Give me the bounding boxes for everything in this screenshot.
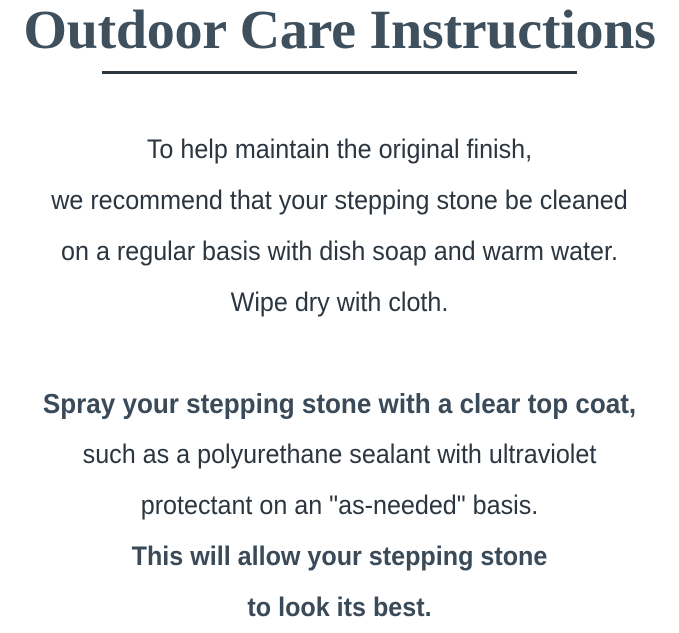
title-block: Outdoor Care Instructions <box>0 0 679 60</box>
body-line-emphasized: Spray your stepping stone with a clear t… <box>24 378 655 429</box>
title-divider <box>102 71 577 74</box>
body-line: protectant on an "as-needed" basis. <box>24 480 655 531</box>
body-line: To help maintain the original finish, <box>24 124 655 175</box>
paragraph-top-coat: Spray your stepping stone with a clear t… <box>0 378 679 633</box>
body-line: Wipe dry with cloth. <box>24 277 655 328</box>
body-line: such as a polyurethane sealant with ultr… <box>24 429 655 480</box>
care-instructions-card: Outdoor Care Instructions To help mainta… <box>0 0 679 613</box>
divider-wrap <box>0 71 679 74</box>
body-line: we recommend that your stepping stone be… <box>24 175 655 226</box>
page-title: Outdoor Care Instructions <box>0 0 679 60</box>
body-line-emphasized: This will allow your stepping stone <box>24 531 655 582</box>
body-line-emphasized: to look its best. <box>24 582 655 633</box>
body-line: on a regular basis with dish soap and wa… <box>24 226 655 277</box>
paragraph-maintenance: To help maintain the original finish, we… <box>0 124 679 328</box>
